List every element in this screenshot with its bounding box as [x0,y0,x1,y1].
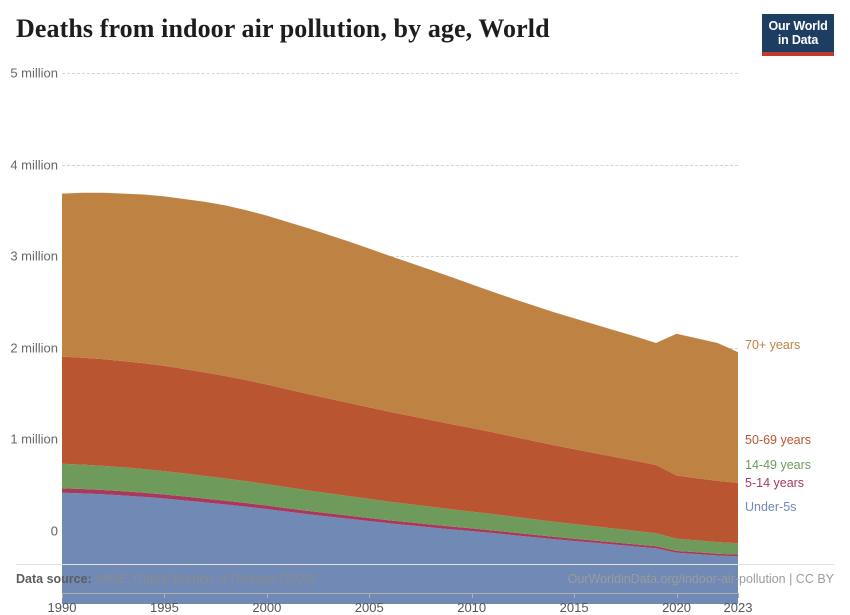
x-axis-tick-label: 2020 [662,600,691,615]
x-axis-tick [267,593,268,598]
series-label-70-years[interactable]: 70+ years [745,338,800,352]
data-source-text: IHME, Global Burden of Disease (2025) [95,572,315,586]
x-axis-tick [738,593,739,598]
x-axis-tick-label: 2000 [252,600,281,615]
series-label-14-49-years[interactable]: 14-49 years [745,458,811,472]
y-axis-tick-label: 5 million [10,66,58,81]
x-axis-tick-label: 2023 [724,600,753,615]
x-axis-tick-label: 1995 [150,600,179,615]
x-axis-tick [164,593,165,598]
y-axis-tick-label: 0 [51,524,58,539]
y-axis-tick-label: 4 million [10,157,58,172]
owid-logo[interactable]: Our World in Data [762,14,834,56]
x-axis-tick [574,593,575,598]
plot-canvas [62,73,738,593]
x-axis-tick [677,593,678,598]
x-axis-tick-label: 2015 [560,600,589,615]
x-axis-line [62,593,738,594]
x-axis-tick-label: 2010 [457,600,486,615]
plot-area: 01 million2 million3 million4 million5 m… [0,62,850,540]
owid-logo-line1: Our World [768,19,827,33]
credit-link[interactable]: OurWorldinData.org/indoor-air-pollution … [568,572,834,586]
x-axis-tick [62,593,63,598]
y-axis-tick-label: 1 million [10,432,58,447]
x-axis-tick-label: 1990 [48,600,77,615]
chart-root: Deaths from indoor air pollution, by age… [0,0,850,600]
y-axis-tick-label: 3 million [10,249,58,264]
chart-footer: Data source: IHME, Global Burden of Dise… [16,564,834,590]
owid-logo-accent-bar [762,52,834,56]
x-axis-tick [369,593,370,598]
footer-divider [16,564,834,565]
chart-header: Deaths from indoor air pollution, by age… [16,12,834,60]
series-label-5-14-years[interactable]: 5-14 years [745,476,804,490]
x-axis-tick-label: 2005 [355,600,384,615]
x-axis-tick [472,593,473,598]
series-label-50-69-years[interactable]: 50-69 years [745,433,811,447]
data-source: Data source: IHME, Global Burden of Dise… [16,572,315,586]
owid-logo-line2: in Data [778,33,818,47]
stacked-area-series [62,73,738,604]
page-title: Deaths from indoor air pollution, by age… [16,12,834,46]
data-source-label: Data source: [16,572,92,586]
series-label-under-5s[interactable]: Under-5s [745,500,796,514]
y-axis-tick-label: 2 million [10,340,58,355]
